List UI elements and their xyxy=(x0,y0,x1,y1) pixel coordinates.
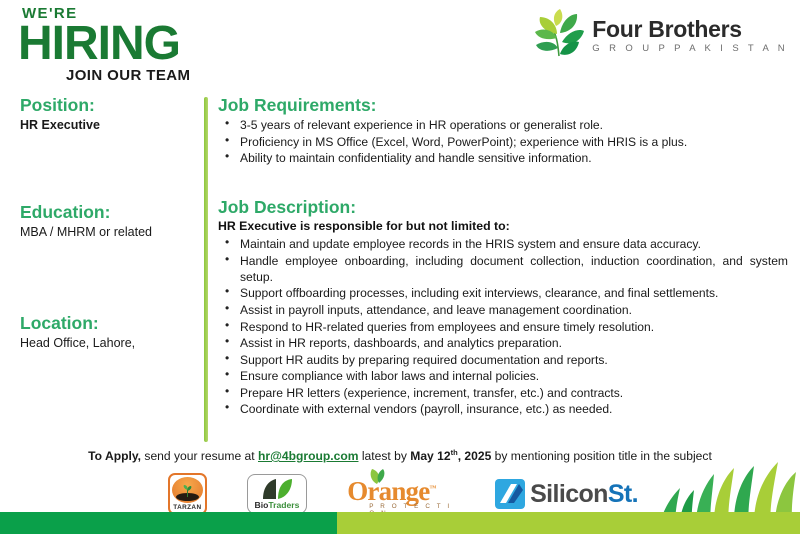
leaf-cluster-icon xyxy=(532,8,586,64)
apply-deadline-year: , 2025 xyxy=(458,449,492,463)
brand-subtitle: G R O U P P A K I S T A N xyxy=(592,44,788,54)
job-poster: WE'RE HIRING JOIN OUR TEAM Four Brothers… xyxy=(0,0,800,534)
company-logo: Four Brothers G R O U P P A K I S T A N xyxy=(532,8,788,64)
job-description-title: Job Description: xyxy=(218,197,790,217)
list-item: Maintain and update employee records in … xyxy=(218,236,790,252)
list-item: Assist in payroll inputs, attendance, an… xyxy=(218,302,790,318)
education-heading: Education: xyxy=(20,203,200,222)
apply-deadline-date: May 12 xyxy=(410,449,450,463)
apply-text-1: send your resume at xyxy=(141,449,258,463)
list-item: Proficiency in MS Office (Excel, Word, P… xyxy=(218,134,790,150)
job-description-lead: HR Executive is responsible for but not … xyxy=(218,219,790,235)
biotraders-label-2: Traders xyxy=(268,500,299,510)
list-item: Support HR audits by preparing required … xyxy=(218,352,790,368)
list-item: Ability to maintain confidentiality and … xyxy=(218,150,790,166)
bottom-bar-light xyxy=(337,512,800,534)
orange-tm: ™ xyxy=(429,484,435,492)
sidebar-section-position: Position: HR Executive xyxy=(20,96,200,134)
bioleaf-icon xyxy=(259,478,295,500)
job-requirements-list: 3-5 years of relevant experience in HR o… xyxy=(218,117,790,166)
education-value: MBA / MHRM or related xyxy=(20,225,200,241)
list-item: 3-5 years of relevant experience in HR o… xyxy=(218,117,790,133)
apply-deadline-ordinal: th xyxy=(451,448,458,457)
siliconst-mark-icon xyxy=(495,479,525,509)
list-item: Prepare HR letters (experience, incremen… xyxy=(218,385,790,401)
orange-protection-logo: Orange™ P R O T E C T I O N xyxy=(347,472,455,516)
list-item: Respond to HR-related queries from emplo… xyxy=(218,319,790,335)
hiring-title: HIRING xyxy=(18,22,348,66)
list-item: Ensure compliance with labor laws and in… xyxy=(218,368,790,384)
job-description-list: Maintain and update employee records in … xyxy=(218,236,790,417)
list-item: Coordinate with external vendors (payrol… xyxy=(218,401,790,417)
siliconst-logo: SiliconSt. xyxy=(495,479,638,509)
position-heading: Position: xyxy=(20,96,200,115)
job-requirements-title: Job Requirements: xyxy=(218,95,790,115)
list-item: Assist in HR reports, dashboards, and an… xyxy=(218,335,790,351)
bottom-color-bar xyxy=(0,512,800,534)
orange-leaf-icon xyxy=(367,468,389,484)
join-our-team-label: JOIN OUR TEAM xyxy=(66,68,348,83)
location-heading: Location: xyxy=(20,314,200,333)
biotraders-logo: BioTraders xyxy=(247,474,308,514)
apply-prefix: To Apply, xyxy=(88,449,141,463)
bottom-bar-dark xyxy=(0,512,337,534)
tarzan-logo: TARZAN xyxy=(168,473,207,515)
position-value: HR Executive xyxy=(20,118,200,134)
job-description-section: Job Description: HR Executive is respons… xyxy=(218,197,790,418)
list-item: Handle employee onboarding, including do… xyxy=(218,253,790,285)
job-requirements-section: Job Requirements: 3-5 years of relevant … xyxy=(218,95,790,167)
orange-label: Orange™ xyxy=(347,478,455,505)
sidebar-section-location: Location: Head Office, Lahore, xyxy=(20,314,200,352)
siliconst-label: SiliconSt. xyxy=(530,482,638,507)
biotraders-label-1: Bio xyxy=(255,500,269,510)
partner-logos: TARZAN BioTraders Orange™ P R O T E C T … xyxy=(168,470,638,518)
sidebar-section-education: Education: MBA / MHRM or related xyxy=(20,203,200,241)
hiring-headline: WE'RE HIRING JOIN OUR TEAM xyxy=(18,6,348,83)
location-value: Head Office, Lahore, xyxy=(20,336,200,352)
tarzan-seedling-icon xyxy=(172,477,203,503)
vertical-divider xyxy=(204,97,208,442)
brand-name: Four Brothers xyxy=(592,18,788,41)
apply-email-link[interactable]: hr@4bgroup.com xyxy=(258,449,358,463)
apply-text-2: latest by xyxy=(358,449,410,463)
tarzan-label: TARZAN xyxy=(173,504,201,511)
list-item: Support offboarding processes, including… xyxy=(218,285,790,301)
